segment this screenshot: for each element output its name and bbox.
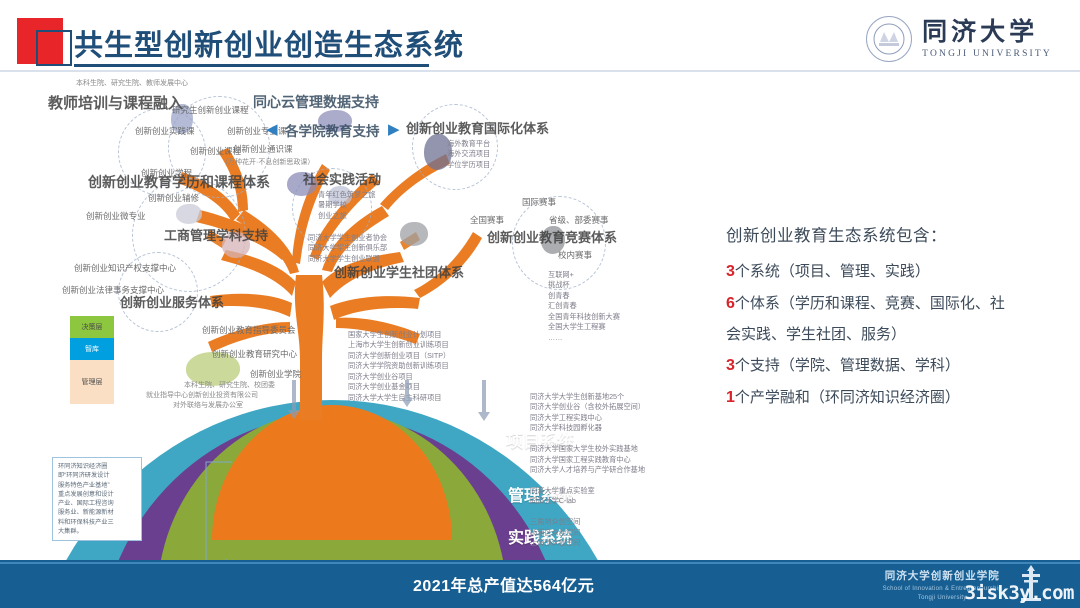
intl-items-list: 海外教育平台 海外交流项目 学位学历项目 — [447, 139, 490, 170]
small-label-guidance-cmte: 创新创业教育指导委员会 — [202, 324, 296, 336]
footer-value-text: 2021年总产值达564亿元 — [413, 572, 594, 596]
leaf-blob-9 — [176, 204, 202, 224]
contest-level-international: 国际赛事 — [522, 196, 556, 208]
label-contest-system: 创新创业教育竞赛体系 — [487, 227, 617, 246]
label-business-discipline: 工商管理学科支持 — [164, 225, 268, 244]
text-supports: 个支持（学院、管理数据、学科） — [735, 357, 960, 374]
tongji-seal-icon — [866, 16, 912, 62]
contest-level-campus: 校内赛事 — [558, 249, 592, 261]
label-international: 创新创业教育国际化体系 — [406, 118, 549, 137]
watermark-text: 3isk3y.com — [965, 582, 1074, 604]
small-label-minor: 创新创业辅修 — [148, 192, 199, 204]
leaf-blob-7 — [400, 222, 428, 246]
text-systems: 个系统（项目、管理、实践） — [735, 263, 930, 280]
arrow-right-icon: ▶ — [388, 122, 400, 137]
small-label-general-course: 创新创业通识课 — [233, 143, 293, 155]
label-cloud-data: 同心云管理数据支持 — [253, 92, 379, 112]
count-frameworks: 6 — [726, 295, 735, 312]
slide-canvas: 共生型创新创业创造生态系统 同济大学 TONGJI UNIVERSITY 项目系… — [0, 0, 1080, 608]
right-panel-row-frameworks-cont: 会实践、学生社团、服务） — [726, 323, 1056, 347]
contest-items-list: 互联网+ 挑战杯 创青春 汇创青春 全国青年科技创新大赛 全国大学生工程赛 …… — [548, 270, 620, 343]
right-panel-row-supports: 3个支持（学院、管理数据、学科） — [726, 353, 1056, 379]
university-logo: 同济大学 TONGJI UNIVERSITY — [866, 16, 1052, 62]
tree-top-note: 本科生院、研究生院、教师发展中心 — [76, 78, 188, 88]
right-panel-row-frameworks: 6个体系（学历和课程、竞赛、国际化、社 — [726, 291, 1056, 317]
small-label-ideology-course: （万种花开·不息创新思政课） — [221, 157, 314, 167]
right-panel-row-integration: 1个产学融和（环同济知识经济圈） — [726, 385, 1056, 411]
label-teacher-training: 教师培训与课程融入 — [48, 92, 183, 113]
small-label-ip-center: 创新创业知识产权支撑中心 — [74, 262, 176, 274]
logo-text-cn: 同济大学 — [922, 20, 1052, 45]
count-integration: 1 — [726, 389, 735, 406]
right-panel-row-systems: 3个系统（项目、管理、实践） — [726, 259, 1056, 285]
arc-connectors — [250, 378, 730, 450]
text-frameworks: 个体系（学历和课程、竞赛、国际化、社 — [735, 295, 1005, 312]
callout-connector — [126, 440, 236, 580]
small-label-grad-course: 研究生创新创业课程 — [172, 104, 249, 116]
logo-text-en: TONGJI UNIVERSITY — [922, 49, 1052, 59]
small-label-practice-course: 创新创业实践课 — [135, 125, 195, 137]
club-items-list: 同济大学学生创业者协会 同济大学学生创新俱乐部 同济大学学生创业联盟 — [308, 233, 387, 264]
right-text-panel: 创新创业教育生态系统包含： 3个系统（项目、管理、实践） 6个体系（学历和课程、… — [726, 222, 1056, 417]
label-social-practice: 社会实践活动 — [303, 169, 381, 188]
count-supports: 3 — [726, 357, 735, 374]
small-label-program: 创新创业学程 — [141, 167, 192, 179]
count-systems: 3 — [726, 263, 735, 280]
contest-level-provincial: 省级、部委赛事 — [549, 214, 609, 226]
small-label-research-center: 创新创业教育研究中心 — [212, 348, 297, 360]
text-frameworks-cont: 会实践、学生社团、服务） — [726, 326, 906, 343]
footer-school-cn: 同济大学创新创业学院 — [883, 568, 1002, 583]
small-label-depts-3: 对外联络与发展办公室 — [173, 400, 243, 410]
arrow-left-icon: ◀ — [266, 122, 278, 137]
small-label-depts-2: 创新创业投资有限公司 — [188, 390, 258, 400]
label-club-system: 创新创业学生社团体系 — [334, 262, 464, 281]
contest-level-national: 全国赛事 — [470, 214, 504, 226]
text-integration: 个产学融和（环同济知识经济圈） — [735, 389, 960, 406]
small-label-career-center: 就业指导中心 — [146, 390, 188, 400]
label-college-support: 各学院教育支持 — [285, 120, 380, 140]
footer-band-rule — [0, 562, 1080, 564]
legend-decision-layer: 决策层 — [70, 316, 114, 338]
small-label-micro-major: 创新创业微专业 — [86, 210, 146, 222]
practice-items-list: 青年红色筑梦之旅 暑期学校 创业之旅 — [318, 190, 376, 221]
small-label-legal-center: 创新创业法律事务支撑中心 — [62, 284, 164, 296]
right-panel-heading: 创新创业教育生态系统包含： — [726, 222, 1056, 246]
page-title: 共生型创新创业创造生态系统 — [74, 22, 464, 64]
legend-management-layer: 管理层 — [70, 360, 114, 404]
legend-think-tank: 智库 — [70, 338, 114, 360]
